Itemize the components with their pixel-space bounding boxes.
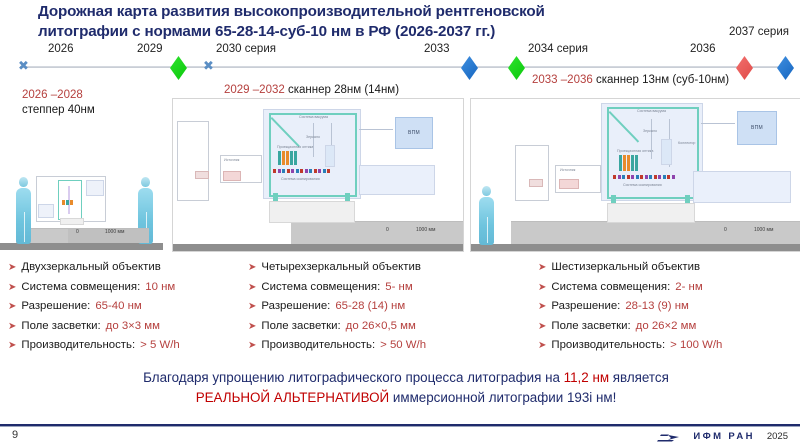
- timeline-x-marker-2026: ✖: [18, 59, 27, 73]
- list-item: ➤Производительность: > 5 W/h: [8, 336, 248, 356]
- vpm-box-3: ВПМ: [737, 111, 777, 145]
- timeline-label-2036: 2036: [690, 43, 716, 55]
- human-head: [482, 186, 491, 196]
- spec-label: Система совмещения:: [21, 278, 140, 297]
- spec-label: Разрешение:: [551, 297, 620, 316]
- specs-column-scanner28: ➤Четырехзеркальный объектив ➤Система сов…: [248, 258, 528, 356]
- list-item: ➤Четырехзеркальный объектив: [248, 258, 528, 278]
- stage-years-2: 2029 –2032: [224, 84, 285, 96]
- stage-years-1: 2026 –2028: [22, 88, 95, 103]
- conclusion-2-highlight: РЕАЛЬНОЙ АЛЬТЕРНАТИВОЙ: [196, 390, 389, 405]
- conclusion-line-1: Благодаря упрощению литографического про…: [50, 368, 762, 388]
- service-cabinet-2: [177, 121, 209, 201]
- spec-value: 10 нм: [145, 278, 175, 297]
- timeline-label-2029: 2029: [137, 43, 163, 55]
- list-item: ➤Разрешение: 65-28 (14) нм: [248, 297, 528, 317]
- mirror-stack-2: [325, 145, 335, 167]
- source-module-3: [559, 179, 579, 189]
- arrow-bullet-icon: ➤: [248, 279, 256, 298]
- machine-base-3: [607, 203, 695, 223]
- ground-strip-1: [0, 243, 163, 250]
- timeline-diamond-2033: [461, 56, 478, 80]
- stage-caption-stepper: 2026 –2028 степпер 40нм: [22, 88, 95, 118]
- list-item: ➤Двухзеркальный объектив: [8, 258, 248, 278]
- arrow-bullet-icon: ➤: [538, 298, 546, 317]
- ground-strip-3: [471, 244, 800, 251]
- arrow-bullet-icon: ➤: [8, 337, 16, 356]
- ground-strip-2: [173, 244, 463, 251]
- list-item: ➤Разрешение: 65-40 нм: [8, 297, 248, 317]
- plinth-3: [471, 221, 800, 244]
- scale-value-2: 1000 мм: [416, 227, 435, 233]
- illustration-scanner-13nm: Источник Система вакуума Проекционная оп…: [470, 98, 800, 252]
- list-item: ➤Производительность: > 50 W/h: [248, 336, 528, 356]
- stage-text-1: степпер 40нм: [22, 103, 95, 118]
- slide-root: Дорожная карта развития высокопроизводит…: [0, 0, 800, 448]
- stage-text-2: сканнер 28нм (14нм): [285, 84, 399, 96]
- conclusion-1a: Благодаря упрощению литографического про…: [143, 370, 564, 385]
- page-title: Дорожная карта развития высокопроизводит…: [38, 2, 678, 42]
- list-item: ➤Поле засветки: до 3×3 мм: [8, 317, 248, 337]
- list-item: ➤Система совмещения: 10 нм: [8, 278, 248, 298]
- stage-caption-scanner28: 2029 –2032 сканнер 28нм (14нм): [224, 84, 399, 96]
- spec-value: 65-40 нм: [95, 297, 141, 316]
- spec-label: Четырехзеркальный объектив: [261, 258, 421, 277]
- spec-value: 2- нм: [675, 278, 702, 297]
- list-item: ➤Разрешение: 28-13 (9) нм: [538, 297, 798, 317]
- specs-columns: ➤Двухзеркальный объектив ➤Система совмещ…: [0, 258, 800, 360]
- frame-leg-right-2: [345, 193, 350, 201]
- spec-label: Поле засветки:: [21, 317, 100, 336]
- label-stage-3: Система сканирования: [623, 183, 662, 187]
- frame-leg-left-3: [611, 195, 616, 203]
- spec-value: до 3×3 мм: [106, 317, 160, 336]
- list-item: ➤Поле засветки: до 26×2 мм: [538, 317, 798, 337]
- optics-strip-2: [278, 151, 297, 165]
- timeline-diamond-2034: [508, 56, 525, 80]
- vpm-box-2: ВПМ: [395, 117, 433, 149]
- human-head: [141, 177, 150, 187]
- arrow-bullet-icon: ➤: [538, 318, 546, 337]
- arrow-bullet-icon: ➤: [248, 318, 256, 337]
- timeline-diamond-2029: [170, 56, 187, 80]
- spec-value: до 26×2 мм: [636, 317, 697, 336]
- label-mirror-3: Зеркало: [643, 129, 657, 133]
- source-module-2: [223, 171, 241, 181]
- spec-label: Система совмещения:: [261, 278, 380, 297]
- human-figure-3: [479, 186, 494, 244]
- conclusion-text: Благодаря упрощению литографического про…: [50, 368, 762, 408]
- scale-value-1: 1000 мм: [105, 229, 124, 235]
- transfer-module-3: [693, 171, 791, 203]
- spec-label: Разрешение:: [261, 297, 330, 316]
- arrow-bullet-icon: ➤: [8, 318, 16, 337]
- human-body: [479, 197, 494, 245]
- label-optics-3: Проекционная оптика: [617, 149, 653, 153]
- timeline-label-2026: 2026: [48, 43, 74, 55]
- machine-module-side-1: [38, 204, 54, 218]
- spec-value: 5- нм: [385, 278, 412, 297]
- timeline-x-marker-2030: ✖: [203, 59, 212, 73]
- arrow-bullet-icon: ➤: [538, 279, 546, 298]
- spec-label: Поле засветки:: [261, 317, 340, 336]
- illustration-scanner-28nm: Система вакуума Источник Проекционная оп…: [172, 98, 464, 252]
- timeline-label-2034: 2034 серия: [528, 43, 588, 55]
- timeline-diamond-2036: [736, 56, 753, 80]
- page-number: 9: [12, 429, 18, 441]
- list-item: ➤Система совмещения: 2- нм: [538, 278, 798, 298]
- optics-strip-3: [619, 155, 638, 171]
- list-item: ➤Шестизеркальный объектив: [538, 258, 798, 278]
- label-vacuum-2: Система вакуума: [299, 115, 328, 119]
- stage-years-3: 2033 –2036: [532, 74, 593, 86]
- spec-value: до 26×0,5 мм: [346, 317, 416, 336]
- human-head: [19, 177, 28, 187]
- frame-leg-right-3: [685, 195, 690, 203]
- spec-label: Шестизеркальный объектив: [551, 258, 700, 277]
- arrow-bullet-icon: ➤: [248, 298, 256, 317]
- label-source-2: Источник: [224, 158, 239, 162]
- label-vacuum-3: Система вакуума: [637, 109, 666, 113]
- spec-label: Поле засветки:: [551, 317, 630, 336]
- footer-year: 2025: [767, 431, 788, 442]
- human-body: [16, 188, 31, 244]
- timeline-label-2037: 2037 серия: [729, 26, 789, 38]
- spec-value: > 100 W/h: [670, 336, 722, 355]
- arrow-bullet-icon: ➤: [8, 298, 16, 317]
- transfer-module-2: [359, 165, 435, 195]
- illustration-stepper-40nm: 0 1000 мм: [0, 144, 163, 250]
- mirror-stack-3: [661, 139, 672, 165]
- machine-base-1: [60, 218, 84, 225]
- list-item: ➤Производительность: > 100 W/h: [538, 336, 798, 356]
- footer-right: ИФМ РАН 2025: [655, 430, 788, 442]
- spec-value: > 50 W/h: [380, 336, 426, 355]
- arrow-bullet-icon: ➤: [538, 259, 546, 278]
- timeline-label-2030: 2030 серия: [216, 43, 276, 55]
- arrow-bullet-icon: ➤: [8, 279, 16, 298]
- arrow-bullet-icon: ➤: [248, 259, 256, 278]
- conclusion-2b: иммерсионной литографии 193i нм!: [389, 390, 616, 405]
- timeline-label-2033: 2033: [424, 43, 450, 55]
- specs-column-scanner13: ➤Шестизеркальный объектив ➤Система совме…: [538, 258, 798, 356]
- timeline-axis: [20, 66, 792, 68]
- machine-base-2: [269, 201, 355, 223]
- conclusion-line-2: РЕАЛЬНОЙ АЛЬТЕРНАТИВОЙ иммерсионной лито…: [50, 388, 762, 408]
- list-item: ➤Система совмещения: 5- нм: [248, 278, 528, 298]
- spec-value: > 5 W/h: [140, 336, 180, 355]
- label-mirror-2: Зеркало: [306, 135, 320, 139]
- arrow-bullet-icon: ➤: [538, 337, 546, 356]
- title-line-2: литографии с нормами 65-28-14-суб-10 нм …: [38, 22, 678, 42]
- institute-name: ИФМ РАН: [693, 431, 755, 442]
- label-stage-2: Система сканирования: [281, 177, 320, 181]
- arrow-bullet-icon: ➤: [248, 337, 256, 356]
- spec-label: Разрешение:: [21, 297, 90, 316]
- label-optics-2: Проекционная оптика: [277, 145, 313, 149]
- timeline-diamond-2037: [777, 56, 794, 80]
- spec-value: 28-13 (9) нм: [625, 297, 689, 316]
- stage-dots-3: [613, 175, 675, 179]
- link-line-2: [359, 129, 393, 130]
- list-item: ➤Поле засветки: до 26×0,5 мм: [248, 317, 528, 337]
- optic-ray-a-3: [651, 119, 652, 159]
- service-cabinet-3: [515, 145, 549, 201]
- stage-text-3: сканнер 13нм (суб-10нм): [593, 74, 729, 86]
- machine-module-top-1: [86, 180, 104, 196]
- spec-value: 65-28 (14) нм: [335, 297, 405, 316]
- spec-label: Производительность:: [261, 336, 375, 355]
- optics-strip-1: [62, 200, 73, 205]
- institute-logo-icon: [655, 430, 681, 442]
- laser-module-3: [529, 179, 543, 187]
- spec-label: Производительность:: [551, 336, 665, 355]
- human-figure-left-1: [16, 177, 31, 243]
- label-collector-3: Коллектор: [678, 141, 695, 145]
- spec-label: Двухзеркальный объектив: [21, 258, 160, 277]
- arrow-bullet-icon: ➤: [8, 259, 16, 278]
- scale-zero-1: 0: [76, 229, 79, 235]
- footer-divider: [0, 424, 800, 427]
- optic-ray-a-2: [313, 123, 314, 157]
- spec-label: Система совмещения:: [551, 278, 670, 297]
- link-line-3: [701, 123, 735, 124]
- stage-caption-scanner13: 2033 –2036 сканнер 13нм (суб-10нм): [532, 74, 729, 86]
- scale-zero-2: 0: [386, 227, 389, 233]
- spec-label: Производительность:: [21, 336, 135, 355]
- scale-zero-3: 0: [724, 227, 727, 233]
- title-line-1: Дорожная карта развития высокопроизводит…: [38, 3, 545, 20]
- conclusion-1b: является: [609, 370, 669, 385]
- laser-module-2: [195, 171, 209, 179]
- label-source-3: Источник: [560, 168, 575, 172]
- specs-column-stepper: ➤Двухзеркальный объектив ➤Система совмещ…: [8, 258, 248, 356]
- frame-leg-left-2: [273, 193, 278, 201]
- stage-dots-2: [273, 169, 330, 173]
- scale-value-3: 1000 мм: [754, 227, 773, 233]
- conclusion-1-highlight: 11,2 нм: [564, 370, 609, 385]
